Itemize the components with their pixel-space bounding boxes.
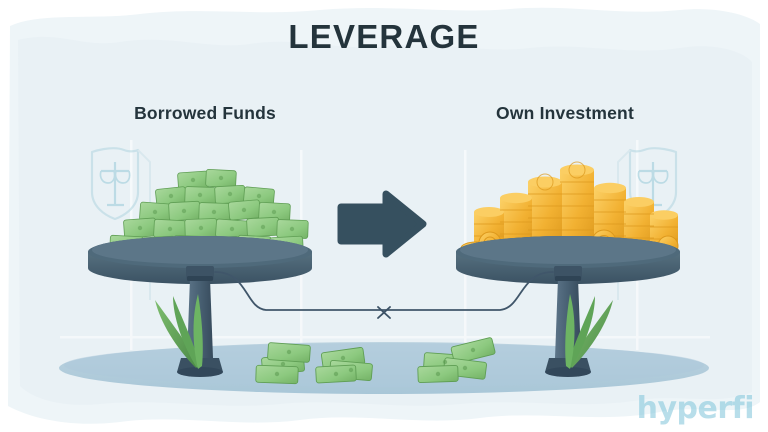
leaf-sprouts-left [155, 294, 203, 369]
watermark-logo: hyperfi [637, 391, 754, 426]
scattered-banknotes [256, 337, 496, 384]
illustration-canvas: LEVERAGE Borrowed Funds Own Investment h… [0, 0, 768, 432]
scene-layer [0, 0, 768, 432]
label-borrowed-funds: Borrowed Funds [60, 103, 350, 124]
leaf-sprouts-right [565, 294, 613, 369]
page-title: LEVERAGE [0, 18, 768, 56]
right-arrow-icon [341, 194, 423, 254]
label-own-investment: Own Investment [420, 103, 710, 124]
x-marker-icon [378, 307, 390, 318]
